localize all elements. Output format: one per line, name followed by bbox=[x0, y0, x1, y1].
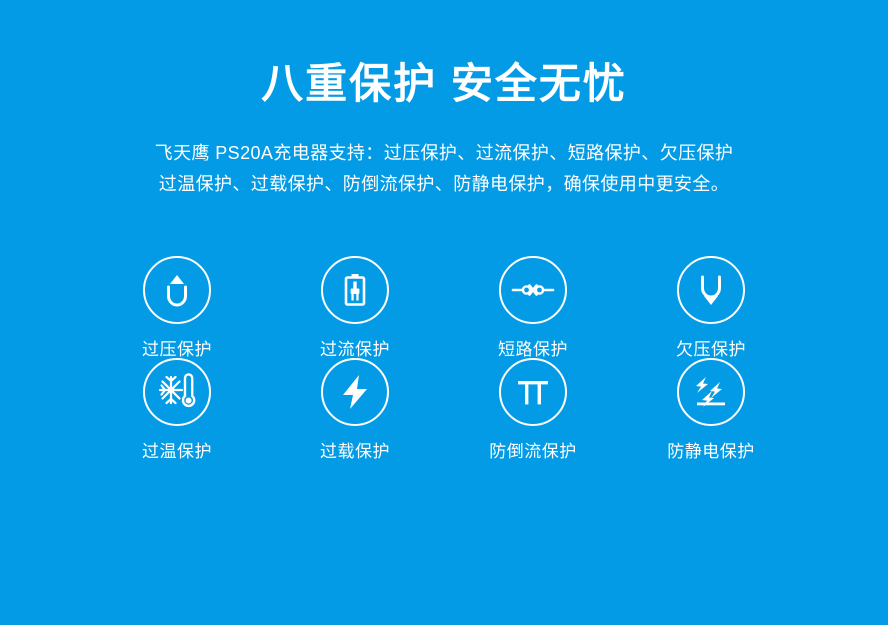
page-title: 八重保护 安全无忧 bbox=[0, 58, 888, 111]
lightning-bolt-icon bbox=[321, 358, 389, 426]
feature-item-overvoltage: 过压保护 bbox=[88, 256, 266, 358]
feature-label: 过流保护 bbox=[320, 341, 390, 358]
subtitle-block: 飞天鹰 PS20A充电器支持：过压保护、过流保护、短路保护、欠压保护 过温保护、… bbox=[0, 138, 888, 200]
promo-banner: 八重保护 安全无忧 飞天鹰 PS20A充电器支持：过压保护、过流保护、短路保护、… bbox=[0, 0, 888, 625]
feature-item-shortcircuit: 短路保护 bbox=[444, 256, 622, 358]
feature-label: 欠压保护 bbox=[676, 341, 746, 358]
feature-item-overtemperature: 过温保护 bbox=[88, 358, 266, 460]
antistatic-ground-icon bbox=[677, 358, 745, 426]
feature-label: 防倒流保护 bbox=[489, 443, 577, 460]
feature-item-overload: 过载保护 bbox=[266, 358, 444, 460]
protection-feature-grid: 过压保护 过流保护 bbox=[88, 256, 800, 460]
short-circuit-icon bbox=[499, 256, 567, 324]
subtitle-line-1: 飞天鹰 PS20A充电器支持：过压保护、过流保护、短路保护、欠压保护 bbox=[0, 138, 888, 169]
snowflake-thermometer-icon bbox=[143, 358, 211, 426]
u-up-arrow-icon bbox=[143, 256, 211, 324]
feature-item-undervoltage: 欠压保护 bbox=[622, 256, 800, 358]
pi-backflow-icon bbox=[499, 358, 567, 426]
feature-label: 过载保护 bbox=[320, 443, 390, 460]
feature-label: 防静电保护 bbox=[667, 443, 755, 460]
battery-plug-icon bbox=[321, 256, 389, 324]
feature-label: 过温保护 bbox=[142, 443, 212, 460]
feature-label: 过压保护 bbox=[142, 341, 212, 358]
feature-item-antistatic: 防静电保护 bbox=[622, 358, 800, 460]
feature-item-antibackflow: 防倒流保护 bbox=[444, 358, 622, 460]
subtitle-line-2: 过温保护、过载保护、防倒流保护、防静电保护，确保使用中更安全。 bbox=[0, 169, 888, 200]
feature-label: 短路保护 bbox=[498, 341, 568, 358]
feature-item-overcurrent: 过流保护 bbox=[266, 256, 444, 358]
u-down-arrow-icon bbox=[677, 256, 745, 324]
